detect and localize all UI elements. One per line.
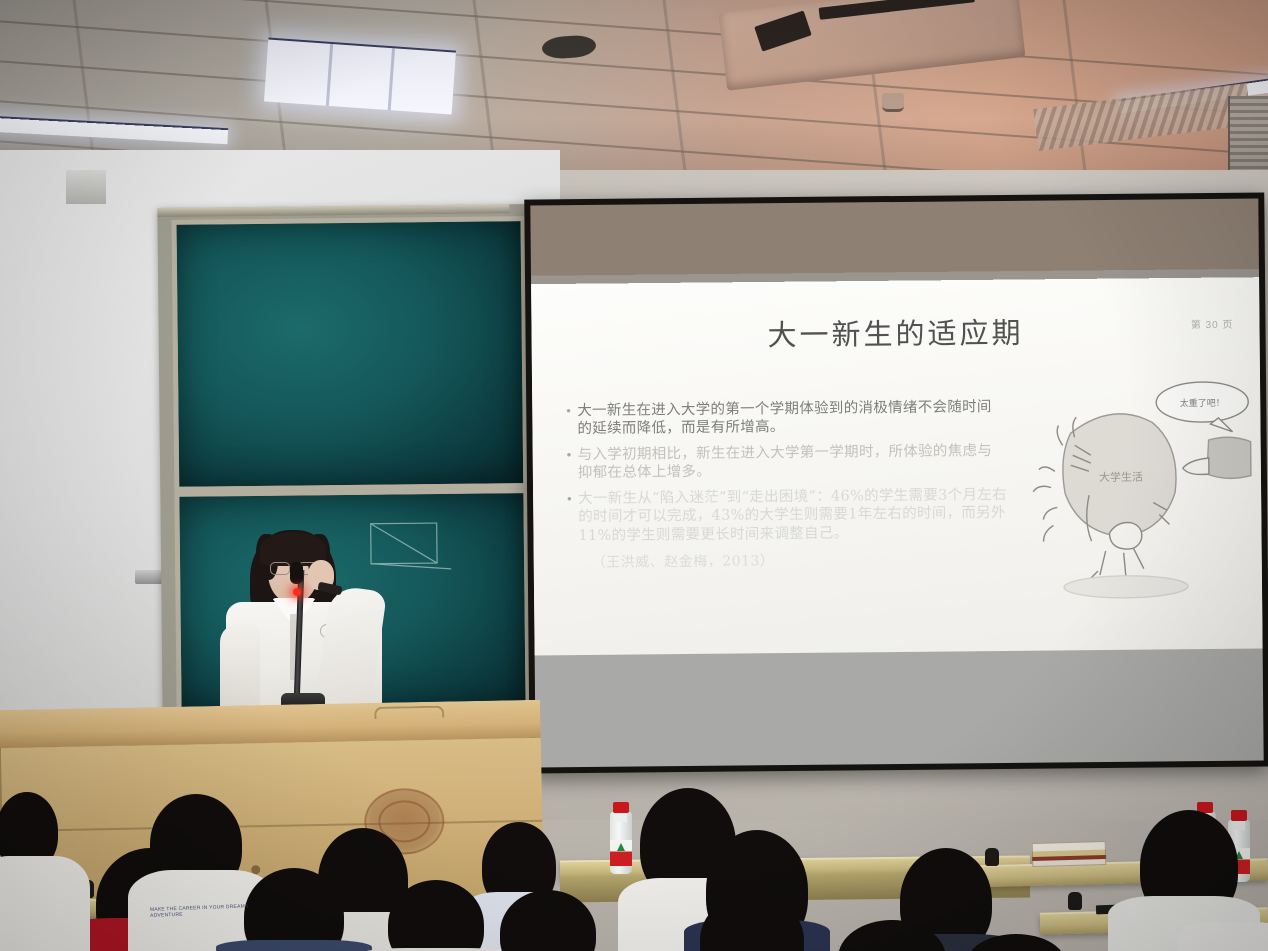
bullet-dot-icon: • [566,402,577,420]
presentation-slide: 大一新生的适应期 第 30 页 • 大一新生在进入大学的第一个学期体验到的消极情… [531,277,1263,655]
microphone-status-led[interactable] [293,588,301,596]
audience-area [0,770,1268,951]
book-stack [1032,841,1107,867]
slide-bullet: • 大一新生在进入大学的第一个学期体验到的消极情绪不会随时间的延续而降低，而是有… [566,398,1006,439]
presenter [216,528,392,720]
slide-page-marker: 第 30 页 [1191,315,1234,330]
audience-torso [1178,922,1268,951]
lecture-hall-photo: 大一新生的适应期 第 30 页 • 大一新生在进入大学的第一个学期体验到的消极情… [0,0,1268,951]
slide-bullet: • 与入学初期相比，新生在进入大学第一学期时，所体验的焦虑与抑郁在总体上增多。 [567,442,1007,483]
projection-screen: 大一新生的适应期 第 30 页 • 大一新生在进入大学的第一个学期体验到的消极情… [524,192,1268,773]
desk-knob [1068,892,1082,910]
lectern-lid-handle[interactable] [374,706,444,719]
slide-bullet-text: 与入学初期相比，新生在进入大学第一学期时，所体验的焦虑与抑郁在总体上增多。 [578,442,1007,483]
bullet-dot-icon: • [567,446,578,464]
microphone-capsule [290,562,303,584]
slide-body: • 大一新生在进入大学的第一个学期体验到的消极情绪不会随时间的延续而降低，而是有… [566,398,1008,573]
blackboard-upper-panel [171,216,528,492]
slide-cartoon-illustration: 大学生活 太重了吧！ [1012,373,1254,603]
wall-mount [66,170,106,204]
bullet-dot-icon: • [567,490,578,508]
wall-bracket [135,570,163,584]
cartoon-boulder-label: 大学生活 [1099,469,1143,483]
water-bottle [610,812,632,874]
cartoon-speech-text: 太重了吧！ [1180,397,1225,409]
slide-bullet-text: 大一新生在进入大学的第一个学期体验到的消极情绪不会随时间的延续而降低，而是有所增… [577,398,1006,439]
slide-citation: （王洪威、赵金梅，2013） [592,548,1008,572]
screen-surface: 大一新生的适应期 第 30 页 • 大一新生在进入大学的第一个学期体验到的消极情… [530,199,1263,768]
desk-knob [985,848,999,866]
audience-torso [0,856,90,951]
presenter-arm-lower [220,624,260,712]
slide-title: 大一新生的适应期 [531,307,1259,356]
audience-torso [216,940,372,951]
slide-bullet-text: 大一新生从“陷入迷茫”到“走出困境”：46%的学生需要3个月左右的时间才可以完成… [578,486,1008,546]
slide-bullet: • 大一新生从“陷入迷茫”到“走出困境”：46%的学生需要3个月左右的时间才可以… [567,486,1008,546]
